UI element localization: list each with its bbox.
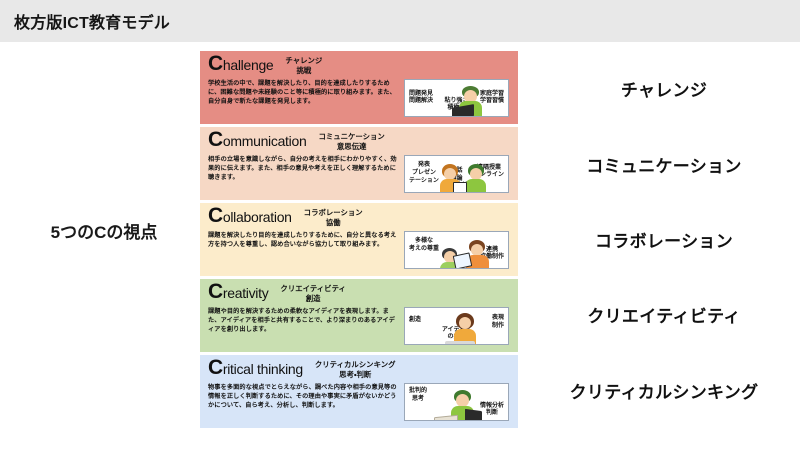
- card-english-rest: ritical thinking: [223, 360, 303, 378]
- card-japanese-kana: コラボレーション: [304, 208, 363, 218]
- header-bar: 枚方版ICT教育モデル: [0, 0, 800, 42]
- card-initial-letter: C: [208, 55, 223, 73]
- girl-figure: [451, 313, 481, 345]
- page-title: 枚方版ICT教育モデル: [14, 9, 170, 33]
- laptop-shape: [465, 409, 482, 421]
- card-initial-letter: C: [208, 359, 223, 377]
- right-label-challenge: チャレンジ: [528, 51, 800, 126]
- card-english-title: Challenge: [208, 55, 273, 74]
- book-shape: [434, 415, 458, 421]
- card-header: Collaboration コラボレーション 協働: [208, 207, 510, 231]
- card-body: 学校生活の中で、課題を解決したり、目的を達成したりするために、困難な問題や未経験…: [208, 79, 510, 120]
- right-label-critical-thinking: クリティカルシンキング: [528, 353, 800, 428]
- card-japanese-title: コミュニケーション 意思伝達: [318, 131, 384, 151]
- card-japanese-kana: クリティカルシンキング: [315, 360, 396, 370]
- card-english-rest: ommunication: [223, 132, 307, 150]
- right-label-collaboration: コラボレーション: [528, 202, 800, 277]
- five-c-card-list: Challenge チャレンジ 挑戦 学校生活の中で、課題を解決したり、目的を達…: [200, 51, 518, 428]
- boy-figure: [448, 390, 480, 421]
- card-header: Challenge チャレンジ 挑戦: [208, 55, 510, 79]
- card-japanese-word: 挑戦: [285, 66, 322, 76]
- card-body: 物事を多面的な視点でとらえながら、調べた内容や相手の意見等の情報を正しく判断する…: [208, 383, 510, 424]
- card-english-rest: hallenge: [223, 56, 274, 74]
- card-header: Communication コミュニケーション 意思伝達: [208, 131, 510, 155]
- card-collaboration: Collaboration コラボレーション 協働 課題を解決したり目的を達成し…: [200, 203, 518, 276]
- girl-making-crafts-illustration: 創造 表現 制作 アイディア の共有: [404, 307, 509, 345]
- children-sharing-tablet-illustration: 多様な 考えの尊重 連携 協働制作: [404, 231, 509, 269]
- torso-shape: [465, 179, 486, 193]
- boy-reading-with-laptop-illustration: 批判的 思考 情報分析 判断: [404, 383, 509, 421]
- card-challenge: Challenge チャレンジ 挑戦 学校生活の中で、課題を解決したり、目的を達…: [200, 51, 518, 124]
- card-japanese-title: クリティカルシンキング 思考・判断: [315, 359, 396, 379]
- card-english-title: Creativity: [208, 283, 268, 302]
- card-description: 相手の立場を意識しながら、自分の考えを相手にわかりやすく、効果的に伝えます。また…: [208, 155, 404, 196]
- card-english-title: Critical thinking: [208, 359, 303, 378]
- card-english-rest: ollaboration: [223, 208, 292, 226]
- illustration-label-left: 批判的 思考: [409, 388, 427, 403]
- card-header: Creativity クリエイティビティ 創造: [208, 283, 510, 307]
- illustration-label-top-left: 多様な 考えの尊重: [409, 238, 439, 253]
- card-japanese-title: チャレンジ 挑戦: [285, 55, 322, 75]
- card-japanese-title: コラボレーション 協働: [304, 207, 363, 227]
- card-critical-thinking: Critical thinking クリティカルシンキング 思考・判断 物事を多…: [200, 355, 518, 428]
- card-japanese-word: 意思伝達: [318, 142, 384, 152]
- card-initial-letter: C: [208, 207, 223, 225]
- five-c-perspective-label: 5つのCの視点: [14, 218, 194, 243]
- boy-figure: [454, 86, 488, 117]
- tablet-shape: [453, 182, 467, 193]
- card-creativity: Creativity クリエイティビティ 創造 課題や目的を解決するための柔軟な…: [200, 279, 518, 352]
- card-japanese-word: 創造: [280, 294, 345, 304]
- card-initial-letter: C: [208, 131, 223, 149]
- illustration-label-left: 創造: [409, 317, 421, 325]
- laptop-shape: [452, 104, 474, 117]
- card-japanese-word: 協働: [304, 218, 363, 228]
- card-communication: Communication コミュニケーション 意思伝達 相手の立場を意識しなが…: [200, 127, 518, 200]
- card-japanese-kana: クリエイティビティ: [280, 284, 345, 294]
- card-japanese-kana: コミュニケーション: [318, 132, 384, 142]
- card-body: 課題や目的を解決するための柔軟なアイディアを表現します。また、アイディアを相手と…: [208, 307, 510, 348]
- card-description: 学校生活の中で、課題を解決したり、目的を達成したりするために、困難な問題や未経験…: [208, 79, 404, 120]
- tablet-shape: [453, 252, 473, 269]
- craft-table-shape: [445, 341, 475, 345]
- card-japanese-title: クリエイティビティ 創造: [280, 283, 345, 303]
- card-japanese-kana: チャレンジ: [285, 56, 322, 66]
- right-label-creativity: クリエイティビティ: [528, 277, 800, 352]
- five-c-right-label-list: チャレンジ コミュニケーション コラボレーション クリエイティビティ クリティカ…: [528, 51, 800, 428]
- card-english-title: Communication: [208, 131, 306, 150]
- card-japanese-word: 思考・判断: [315, 370, 396, 380]
- boy-with-laptop-illustration: 問題発見 問題解決 家庭学習 学習習慣 粘り強さ 積極性: [404, 79, 509, 117]
- card-description: 物事を多面的な視点でとらえながら、調べた内容や相手の意見等の情報を正しく判断する…: [208, 383, 404, 424]
- two-children-talking-illustration: 発表 プレゼン テーション 遠隔授業 オンライン 対話 議論 意見交流: [404, 155, 509, 193]
- right-label-communication: コミュニケーション: [528, 126, 800, 201]
- card-description: 課題を解決したり目的を達成したりするために、自分と異なる考え方を持つ人を尊重し、…: [208, 231, 404, 272]
- card-body: 課題を解決したり目的を達成したりするために、自分と異なる考え方を持つ人を尊重し、…: [208, 231, 510, 272]
- card-english-title: Collaboration: [208, 207, 292, 226]
- card-body: 相手の立場を意識しながら、自分の考えを相手にわかりやすく、効果的に伝えます。また…: [208, 155, 510, 196]
- card-english-rest: reativity: [223, 284, 269, 302]
- card-description: 課題や目的を解決するための柔軟なアイディアを表現します。また、アイディアを相手と…: [208, 307, 404, 348]
- card-initial-letter: C: [208, 283, 223, 301]
- card-header: Critical thinking クリティカルシンキング 思考・判断: [208, 359, 510, 383]
- illustration-label-right: 情報分析 判断: [480, 403, 504, 418]
